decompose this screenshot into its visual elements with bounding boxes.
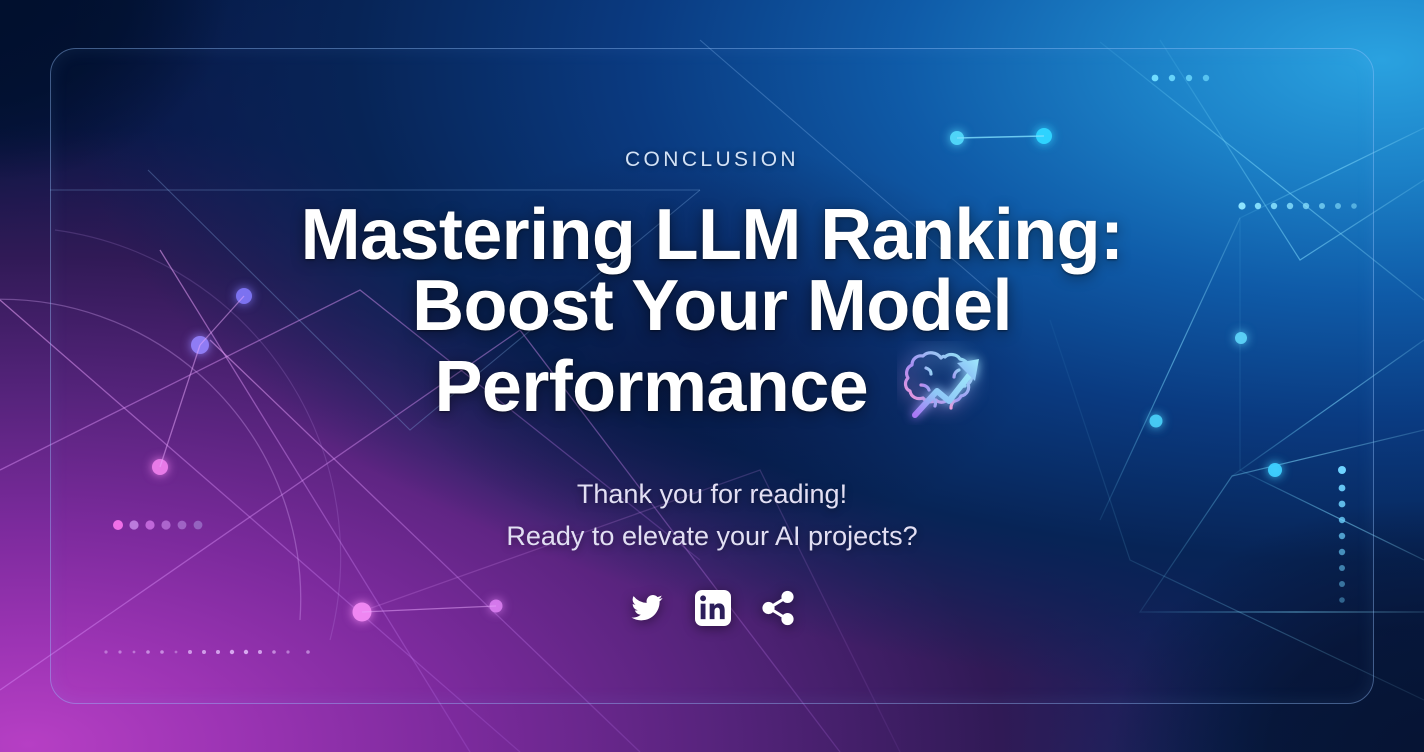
- eyebrow-label: CONCLUSION: [625, 148, 799, 172]
- brain-growth-icon: [897, 341, 989, 437]
- linkedin-icon[interactable]: [693, 588, 733, 628]
- title-line-3-wrap: Performance: [301, 341, 1124, 437]
- social-links: [627, 588, 797, 628]
- title-line-3: Performance: [434, 347, 868, 427]
- title-line-1: Mastering LLM Ranking:: [301, 200, 1124, 271]
- share-icon[interactable]: [759, 589, 797, 627]
- subtitle-line-2: Ready to elevate your AI projects?: [506, 515, 917, 558]
- subtitle-line-1: Thank you for reading!: [506, 473, 917, 516]
- title-line-2: Boost Your Model: [301, 271, 1124, 342]
- page-title: Mastering LLM Ranking: Boost Your Model …: [301, 200, 1124, 437]
- slide-canvas: CONCLUSION Mastering LLM Ranking: Boost …: [0, 0, 1424, 752]
- twitter-icon[interactable]: [627, 591, 667, 625]
- slide-content: CONCLUSION Mastering LLM Ranking: Boost …: [0, 0, 1424, 752]
- subtitle: Thank you for reading! Ready to elevate …: [506, 473, 917, 558]
